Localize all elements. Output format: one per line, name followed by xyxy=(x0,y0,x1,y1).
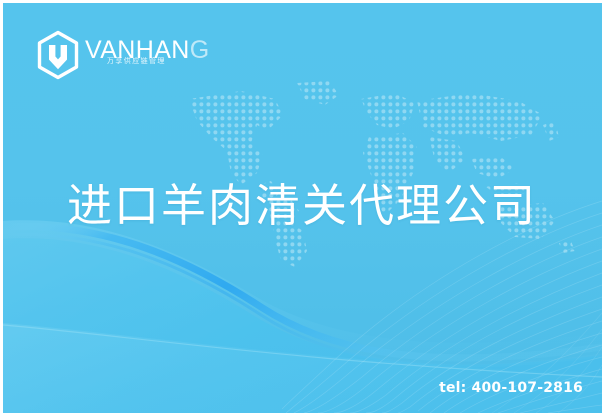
brand-logo[interactable]: VANHANG 万享供应链管理 xyxy=(34,31,210,79)
hexagon-u-mark xyxy=(34,30,82,80)
page-title: 进口羊肉清关代理公司 xyxy=(67,180,537,232)
brand-subtitle: 万享供应链管理 xyxy=(107,56,166,66)
contact-phone: tel: 400-107-2816 xyxy=(439,380,583,396)
brand-wordmark-wrap: VANHANG 万享供应链管理 xyxy=(85,35,210,75)
promo-banner: VANHANG 万享供应链管理 进口羊肉清关代理公司 tel: 400-107-… xyxy=(0,0,605,413)
brand-wordmark-tail: G xyxy=(190,36,210,64)
banner-canvas: VANHANG 万享供应链管理 进口羊肉清关代理公司 tel: 400-107-… xyxy=(3,3,602,413)
